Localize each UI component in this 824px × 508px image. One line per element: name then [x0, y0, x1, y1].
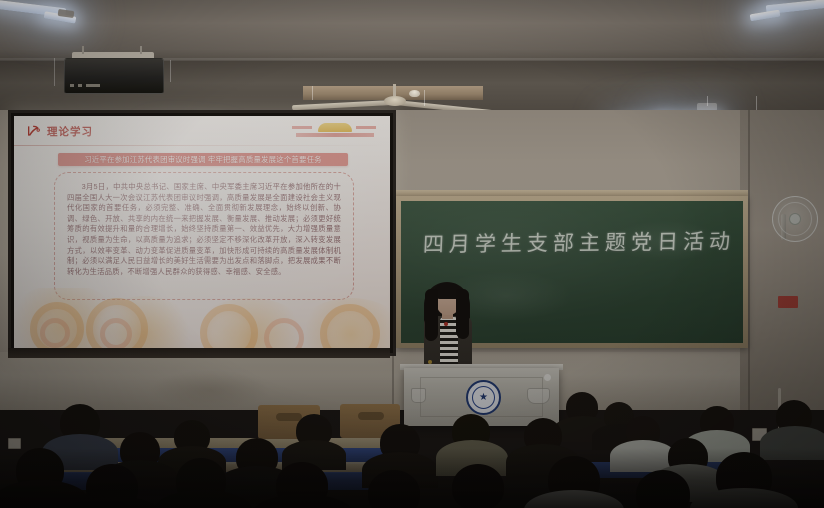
audience-shoulders — [524, 490, 624, 508]
slide-body-box: 3月5日，中共中央总书记、国家主席、中央军委主席习近平在参加他所在的十四届全国人… — [54, 172, 354, 300]
smoke-detector — [409, 90, 420, 97]
decor-tick — [292, 126, 312, 129]
slide-decoration-swirls — [14, 288, 390, 350]
audience-head — [452, 464, 504, 508]
podium-object — [527, 388, 550, 404]
party-emblem-icon — [26, 123, 42, 139]
slide-header: 理论学习 — [14, 116, 390, 146]
university-seal-icon: ★ — [466, 380, 501, 415]
presenter-badge — [444, 322, 448, 326]
swirl-shape — [100, 318, 132, 350]
wall-stain — [150, 370, 270, 410]
classroom-scene: 理论学习 习近平在参加江苏代表团审议时强调 牢牢把握高质量发展这个首要任务 3月… — [0, 0, 824, 508]
audience-head — [368, 470, 420, 508]
red-wall-sign — [778, 296, 798, 308]
projector-cable — [170, 60, 171, 82]
ceiling-fan-motor — [384, 96, 406, 106]
presenter-hair-right — [456, 289, 469, 339]
wall-fan-hub — [789, 213, 801, 225]
ceiling-projector — [64, 58, 164, 94]
podium-cup — [411, 388, 426, 403]
light-hanger — [756, 96, 757, 110]
decor-tick — [356, 126, 376, 129]
slide-banner-text: 习近平在参加江苏代表团审议时强调 牢牢把握高质量发展这个首要任务 — [84, 154, 322, 165]
projector-arm — [82, 46, 84, 54]
chair-handle-hole — [276, 413, 302, 421]
slide-header-decoration — [288, 122, 380, 140]
presentation-slide: 理论学习 习近平在参加江苏代表团审议时强调 牢牢把握高质量发展这个首要任务 3月… — [14, 116, 390, 350]
fan-wire — [424, 90, 425, 106]
swirl-shape — [40, 318, 70, 348]
wall-seam — [748, 110, 750, 410]
light-hanger — [707, 96, 708, 106]
slide-header-rule — [14, 145, 390, 146]
swirl-shape — [264, 318, 304, 350]
slide-header-title: 理论学习 — [47, 124, 93, 139]
wall-outlet — [8, 438, 21, 449]
chair-handle-hole — [358, 412, 384, 420]
projector-arm — [140, 46, 142, 54]
projection-screen: 理论学习 习近平在参加江苏代表团审议时强调 牢牢把握高质量发展这个首要任务 3月… — [8, 110, 396, 356]
audience-shoulders — [760, 426, 824, 460]
slide-body-text: 3月5日，中共中央总书记、国家主席、中央军委主席习近平在参加他所在的十四届全国人… — [67, 182, 341, 277]
slide-title-banner: 习近平在参加江苏代表团审议时强调 牢牢把握高质量发展这个首要任务 — [58, 153, 348, 166]
seal-core-glyph: ★ — [478, 391, 489, 404]
projector-indicator-lights — [70, 84, 100, 87]
blackboard-text: 四月学生支部主题党日活动 — [422, 225, 733, 258]
tiananmen-decor-icon — [318, 123, 352, 132]
podium-sticker — [544, 374, 551, 381]
decor-bar — [296, 133, 374, 137]
presenter-hair-left — [425, 289, 438, 341]
screen-bottom-bar — [8, 348, 390, 358]
fan-wire — [312, 86, 313, 100]
projector-cable — [54, 58, 55, 86]
right-wall-column — [740, 110, 824, 410]
